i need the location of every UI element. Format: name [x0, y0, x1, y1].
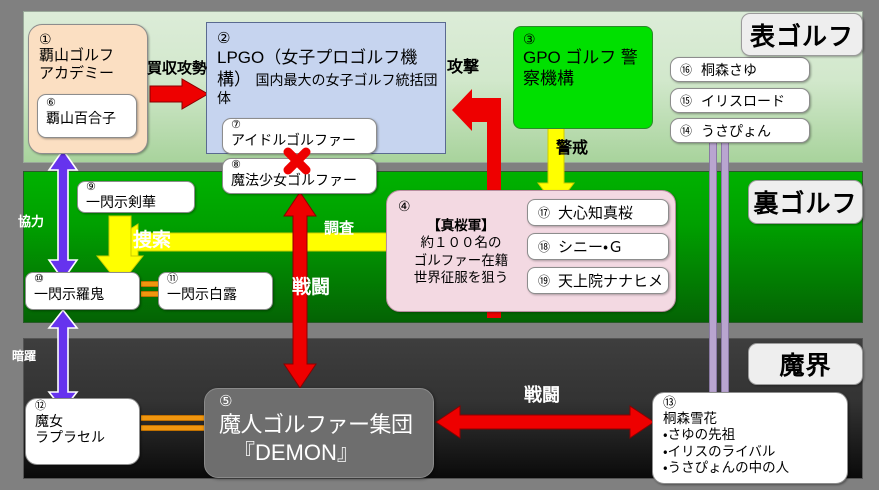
node-witch-laplacell[interactable]: ⑫ 魔女 ラプラセル: [25, 398, 140, 465]
cross-mark-icon: [281, 146, 313, 176]
chip-16-number: ⑯: [680, 61, 692, 78]
chip-18-label: シニー・Ｇ: [558, 236, 623, 257]
node-gpo[interactable]: ③ GPO ゴルフ 警察機構: [513, 26, 653, 129]
chip-15-label: イリスロード: [701, 91, 785, 111]
label-sentou-vertical: 戦闘: [292, 272, 330, 299]
label-anyaku: 暗躍: [12, 347, 36, 364]
label-chousa: 調査: [324, 217, 354, 238]
chip-18-number: ⑱: [538, 238, 550, 255]
node-hakuro-number: ⑪: [167, 274, 272, 286]
diagram-canvas: 買収攻勢 攻撃 警戒 協力 捜索 調査 戦闘 戦闘 暗躍 ① 覇山ゴルフ アカデ…: [0, 0, 879, 490]
node-masakura-line3: 世界征服を狙う: [395, 269, 527, 286]
node-lpgo-subtitle: 国内最大の女子ゴルフ統括団体: [217, 72, 437, 106]
chip-19-number: ⑲: [538, 272, 550, 289]
label-keikai: 警戒: [556, 134, 588, 158]
node-yuriko-label: 覇山百合子: [46, 110, 136, 126]
label-sousaku: 捜索: [133, 225, 171, 252]
node-idol-number: ⑦: [231, 120, 376, 132]
arrow-sentou-bottom: [436, 405, 654, 439]
arrow-anyaku: [46, 310, 80, 410]
node-lpgo-number: ②: [217, 30, 445, 47]
node-issenji-raki[interactable]: ⑩ 一閃示羅鬼: [25, 272, 140, 310]
node-masakura-army[interactable]: ④ 【真桜軍】 約１００名の ゴルファー在籍 世界征服を狙う ⑰ 大心知真桜 ⑱…: [386, 190, 676, 312]
node-masakura-body: 【真桜軍】 約１００名の ゴルファー在籍 世界征服を狙う: [395, 217, 527, 286]
node-masakura-army-name: 【真桜軍】: [427, 218, 495, 233]
node-issenji-hakuro[interactable]: ⑪ 一閃示白露: [158, 272, 273, 310]
node-majo-line1: 魔女: [35, 413, 139, 429]
chip-17-number: ⑰: [538, 204, 550, 221]
equal-connector-raki-hakuro: [141, 281, 158, 297]
node-yuriko-number: ⑥: [46, 98, 136, 110]
node-hazan-number: ①: [39, 31, 147, 47]
chip-iris-road[interactable]: ⑮ イリスロード: [670, 88, 810, 113]
label-sentou-bottom: 戦闘: [524, 381, 560, 407]
link-majo-demon: [141, 415, 205, 431]
node-kirimori-sekka[interactable]: ⑬ 桐森雪花 ・さゆの先祖 ・イリスのライバル ・うさぴょんの中の人: [652, 392, 848, 484]
chip-daishinchi-masakura[interactable]: ⑰ 大心知真桜: [527, 199, 669, 226]
node-issenji-kenka[interactable]: ⑨ 一閃示剣華: [77, 181, 195, 213]
node-sekka-number: ⑬: [663, 395, 847, 411]
label-baishu: 買収攻勢: [147, 57, 207, 78]
rail-line-left: [709, 140, 717, 395]
arrow-kyouryoku-upper: [46, 150, 80, 280]
node-hazan-yuriko[interactable]: ⑥ 覇山百合子: [37, 94, 137, 138]
node-kenka-label: 一閃示剣華: [86, 194, 194, 210]
node-demon-number: ⑤: [219, 393, 433, 411]
arrow-baishu: [150, 78, 210, 110]
chip-14-number: ⑭: [680, 122, 692, 139]
node-hazan-line2: アカデミー: [39, 65, 147, 83]
node-sekka-name: 桐森雪花: [663, 411, 847, 427]
chip-kirimori-sayu[interactable]: ⑯ 桐森さゆ: [670, 57, 810, 82]
node-gpo-line1: GPO: [523, 48, 561, 67]
node-demon-group[interactable]: ⑤ 魔人ゴルファー集団 『DEMON』: [204, 388, 434, 478]
label-kougeki: 攻撃: [447, 53, 479, 77]
node-masakura-line1: 約１００名の: [395, 234, 527, 251]
node-hazan-line1: 覇山ゴルフ: [39, 47, 147, 65]
chip-tenjoin-nanahime[interactable]: ⑲ 天上院ナナヒメ: [527, 267, 669, 294]
rail-line-right: [721, 140, 729, 395]
section-title-makai: 魔界: [748, 343, 863, 385]
label-kyouryoku: 協力: [18, 211, 44, 230]
node-gpo-number: ③: [523, 31, 652, 47]
chip-usapyon[interactable]: ⑭ うさぴょん: [670, 118, 810, 143]
section-title-ura: 裏ゴルフ: [748, 180, 863, 224]
node-masakura-line2: ゴルファー在籍: [395, 252, 527, 269]
node-majo-line2: ラプラセル: [35, 429, 139, 445]
node-masakura-number: ④: [398, 198, 411, 215]
chip-16-label: 桐森さゆ: [701, 60, 757, 80]
chip-19-label: 天上院ナナヒメ: [558, 270, 663, 291]
node-majo-number: ⑫: [35, 401, 139, 413]
chip-17-label: 大心知真桜: [558, 202, 633, 223]
node-demon-line2: 『DEMON』: [219, 439, 433, 467]
node-raki-label: 一閃示羅鬼: [34, 286, 139, 302]
node-demon-line1: 魔人ゴルファー集団: [219, 411, 433, 439]
node-sekka-line1: ・さゆの先祖: [663, 427, 847, 443]
node-sekka-line3: ・うさぴょんの中の人: [663, 460, 847, 476]
chip-14-label: うさぴょん: [701, 121, 771, 141]
node-raki-number: ⑩: [34, 274, 139, 286]
chip-shiny-g[interactable]: ⑱ シニー・Ｇ: [527, 233, 669, 260]
chip-15-number: ⑮: [680, 92, 692, 109]
node-hakuro-label: 一閃示白露: [167, 286, 272, 302]
node-sekka-line2: ・イリスのライバル: [663, 444, 847, 460]
section-title-omote: 表ゴルフ: [741, 13, 863, 56]
node-gpo-line2: ゴルフ: [565, 48, 616, 67]
node-kenka-number: ⑨: [86, 182, 194, 194]
